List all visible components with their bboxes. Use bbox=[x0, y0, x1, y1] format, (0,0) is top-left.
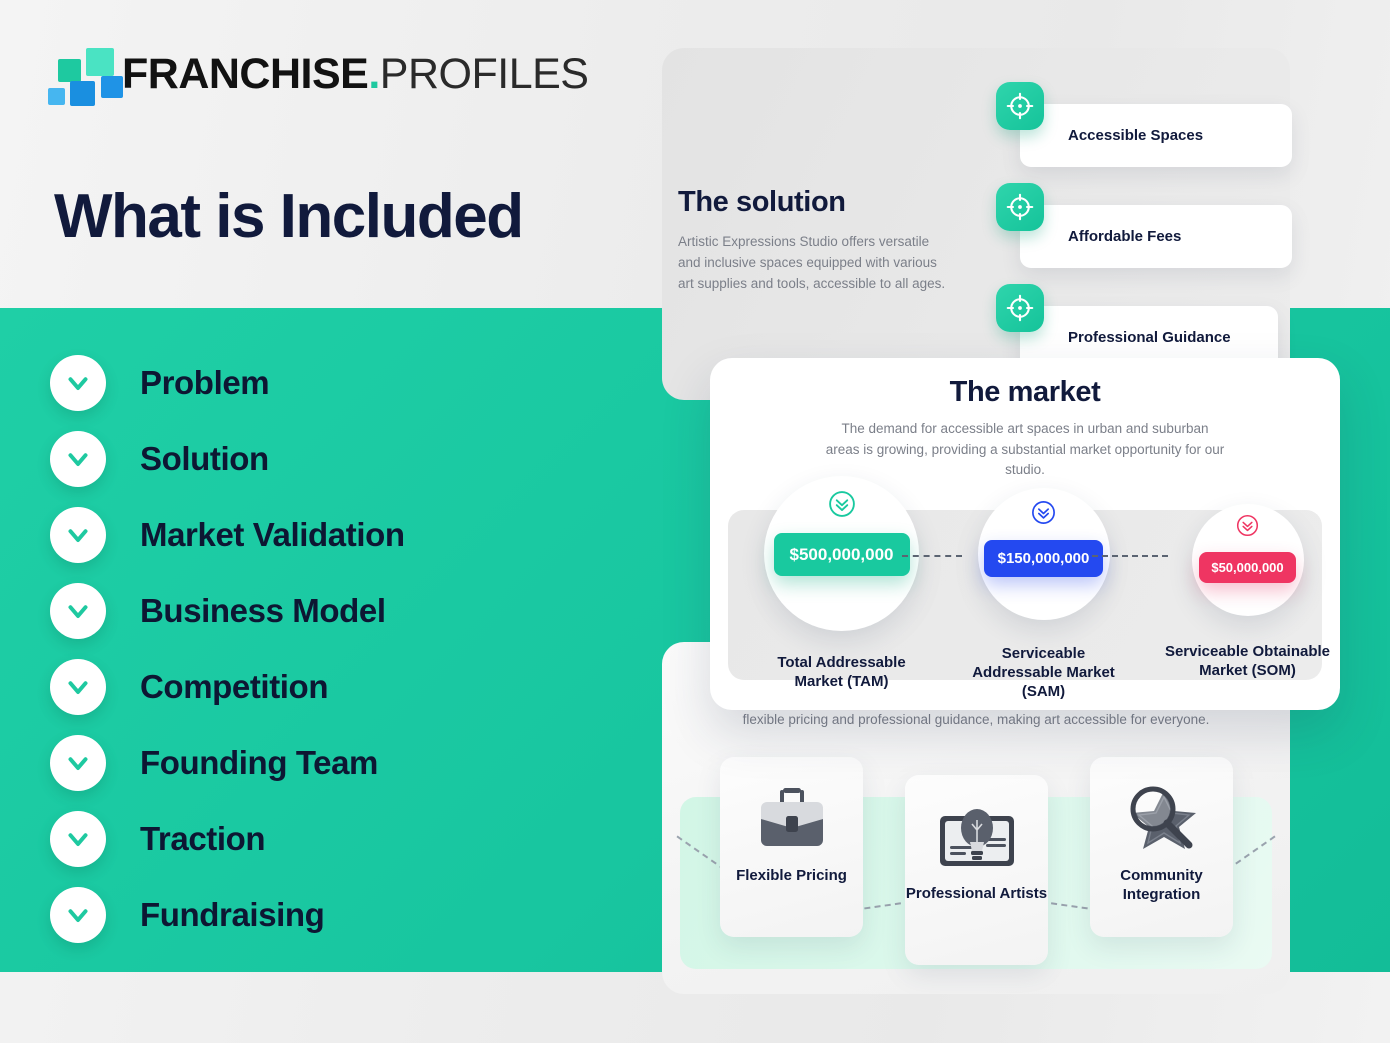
benefit-card[interactable]: Community Integration bbox=[1090, 757, 1233, 937]
list-item[interactable]: Business Model bbox=[50, 573, 610, 649]
chevron-down-icon bbox=[50, 659, 106, 715]
solution-feature-row[interactable]: Professional Guidance bbox=[996, 284, 1278, 369]
market-node-tam[interactable]: $500,000,000 Total Addressable Market (T… bbox=[754, 476, 929, 691]
market-node-som[interactable]: $50,000,000 Serviceable Obtainable Marke… bbox=[1160, 504, 1335, 680]
briefcase-icon bbox=[753, 777, 831, 861]
included-items-list: Problem Solution Market Validation Busin… bbox=[50, 345, 610, 953]
brand-name-bold: FRANCHISE bbox=[122, 50, 368, 98]
benefit-card-label: Professional Artists bbox=[906, 885, 1047, 904]
solution-feature-row[interactable]: Affordable Fees bbox=[996, 183, 1292, 268]
list-item-label: Competition bbox=[140, 668, 328, 706]
chevron-down-icon bbox=[50, 355, 106, 411]
list-item[interactable]: Founding Team bbox=[50, 725, 610, 801]
list-item-label: Business Model bbox=[140, 592, 386, 630]
magnifier-star-icon bbox=[1119, 777, 1205, 861]
benefit-card-label: Community Integration bbox=[1090, 867, 1233, 905]
market-value-som: $50,000,000 bbox=[1199, 552, 1295, 583]
market-bubble: $50,000,000 bbox=[1192, 504, 1304, 616]
list-item-label: Problem bbox=[140, 364, 269, 402]
market-label-som: Serviceable Obtainable Market (SOM) bbox=[1160, 642, 1335, 680]
list-item-label: Solution bbox=[140, 440, 269, 478]
brand-name-thin: PROFILES bbox=[380, 50, 589, 98]
target-crosshair-icon bbox=[996, 82, 1044, 130]
market-connector bbox=[1092, 555, 1168, 557]
chevron-down-icon bbox=[50, 431, 106, 487]
market-label-sam: Serviceable Addressable Market (SAM) bbox=[956, 644, 1131, 702]
list-item[interactable]: Fundraising bbox=[50, 877, 610, 953]
chevron-down-icon bbox=[50, 735, 106, 791]
market-value-sam: $150,000,000 bbox=[984, 540, 1104, 577]
solution-feature-label: Accessible Spaces bbox=[1020, 104, 1292, 167]
double-chevron-down-icon bbox=[1236, 514, 1259, 542]
double-chevron-down-icon bbox=[828, 490, 856, 523]
benefit-card[interactable]: Flexible Pricing bbox=[720, 757, 863, 937]
market-bubble: $500,000,000 bbox=[764, 476, 919, 631]
list-item[interactable]: Market Validation bbox=[50, 497, 610, 573]
solution-feature-row[interactable]: Accessible Spaces bbox=[996, 82, 1292, 167]
chevron-down-icon bbox=[50, 887, 106, 943]
chevron-down-icon bbox=[50, 507, 106, 563]
list-item-label: Traction bbox=[140, 820, 265, 858]
benefit-card-label: Flexible Pricing bbox=[736, 867, 847, 886]
brand-logo[interactable]: FRANCHISE.PROFILES bbox=[46, 48, 588, 100]
target-crosshair-icon bbox=[996, 183, 1044, 231]
benefit-card[interactable]: Professional Artists bbox=[905, 775, 1048, 965]
market-bubble: $150,000,000 bbox=[978, 488, 1110, 620]
list-item-label: Market Validation bbox=[140, 516, 405, 554]
solution-title: The solution bbox=[678, 186, 846, 219]
list-item[interactable]: Solution bbox=[50, 421, 610, 497]
market-description: The demand for accessible art spaces in … bbox=[825, 419, 1225, 481]
market-card: The market The demand for accessible art… bbox=[710, 358, 1340, 710]
market-value-tam: $500,000,000 bbox=[774, 533, 910, 576]
target-crosshair-icon bbox=[996, 284, 1044, 332]
market-label-tam: Total Addressable Market (TAM) bbox=[754, 653, 929, 691]
market-title: The market bbox=[710, 376, 1340, 409]
list-item[interactable]: Traction bbox=[50, 801, 610, 877]
squares-logo-icon bbox=[46, 48, 108, 100]
market-node-sam[interactable]: $150,000,000 Serviceable Addressable Mar… bbox=[956, 488, 1131, 702]
page-title: What is Included bbox=[54, 186, 523, 248]
solution-description: Artistic Expressions Studio offers versa… bbox=[678, 232, 950, 295]
chevron-down-icon bbox=[50, 583, 106, 639]
value-proposition-description: flexible pricing and professional guidan… bbox=[662, 710, 1290, 731]
brand-wordmark: FRANCHISE.PROFILES bbox=[122, 53, 588, 96]
market-connector bbox=[902, 555, 962, 557]
list-item[interactable]: Problem bbox=[50, 345, 610, 421]
chevron-down-icon bbox=[50, 811, 106, 867]
double-chevron-down-icon bbox=[1031, 500, 1056, 530]
list-item-label: Fundraising bbox=[140, 896, 324, 934]
list-item-label: Founding Team bbox=[140, 744, 378, 782]
solution-feature-label: Affordable Fees bbox=[1020, 205, 1292, 268]
lightbulb-presentation-icon bbox=[936, 795, 1018, 879]
brand-name-dot: . bbox=[368, 50, 379, 98]
list-item[interactable]: Competition bbox=[50, 649, 610, 725]
